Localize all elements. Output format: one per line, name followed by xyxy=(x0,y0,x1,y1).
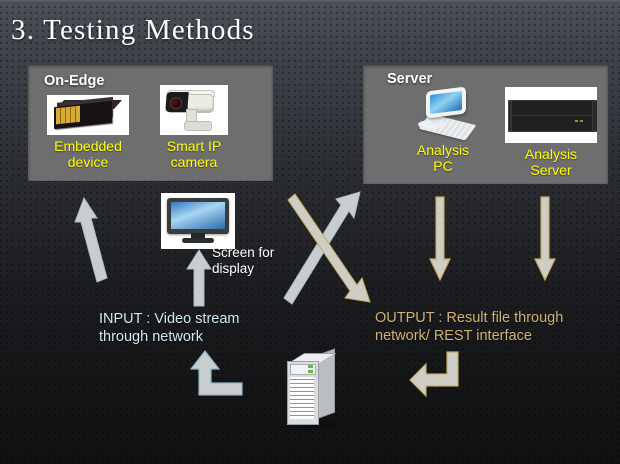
output-caption: OUTPUT : Result file through network/ RE… xyxy=(375,309,563,345)
node-smart-ip-camera: Smart IP camera xyxy=(150,85,238,170)
panel-on-edge: On-Edge Embedded device Smart IP camera xyxy=(28,65,273,181)
node-analysis-pc: Analysis PC xyxy=(399,87,487,174)
arrow-elbow-left-output xyxy=(408,352,462,398)
node-analysis-pc-label: Analysis PC xyxy=(399,142,487,174)
tower-server-icon xyxy=(283,349,339,429)
panel-on-edge-title: On-Edge xyxy=(44,73,104,89)
embedded-device-icon xyxy=(47,95,129,135)
input-caption: INPUT : Video stream through network xyxy=(99,310,240,346)
arrow-down-analysis-pc xyxy=(428,197,452,281)
slide-canvas: 3. Testing Methods On-Edge Embedded devi… xyxy=(0,0,620,464)
slide-top-border xyxy=(0,0,620,3)
arrow-down-right-to-output xyxy=(284,192,374,304)
arrow-up-left-to-embedded xyxy=(72,198,118,290)
arrow-elbow-up-input xyxy=(188,351,244,401)
rack-server-icon xyxy=(505,87,597,143)
node-embedded-device: Embedded device xyxy=(44,95,132,170)
arrow-down-analysis-server xyxy=(533,197,557,281)
monitor-icon xyxy=(161,193,235,249)
page-title: 3. Testing Methods xyxy=(11,14,255,47)
node-analysis-server: Analysis Server xyxy=(503,87,599,178)
node-embedded-device-label: Embedded device xyxy=(44,138,132,170)
screen-for-display-label: Screen for display xyxy=(212,245,274,277)
panel-server: Server Analysis PC Analysis Server xyxy=(363,65,608,184)
ip-camera-icon xyxy=(160,85,228,135)
panel-server-title: Server xyxy=(387,71,432,87)
node-analysis-server-label: Analysis Server xyxy=(503,146,599,178)
desktop-computer-icon xyxy=(412,87,474,139)
node-smart-ip-camera-label: Smart IP camera xyxy=(150,138,238,170)
arrow-up-to-monitor xyxy=(185,250,213,306)
